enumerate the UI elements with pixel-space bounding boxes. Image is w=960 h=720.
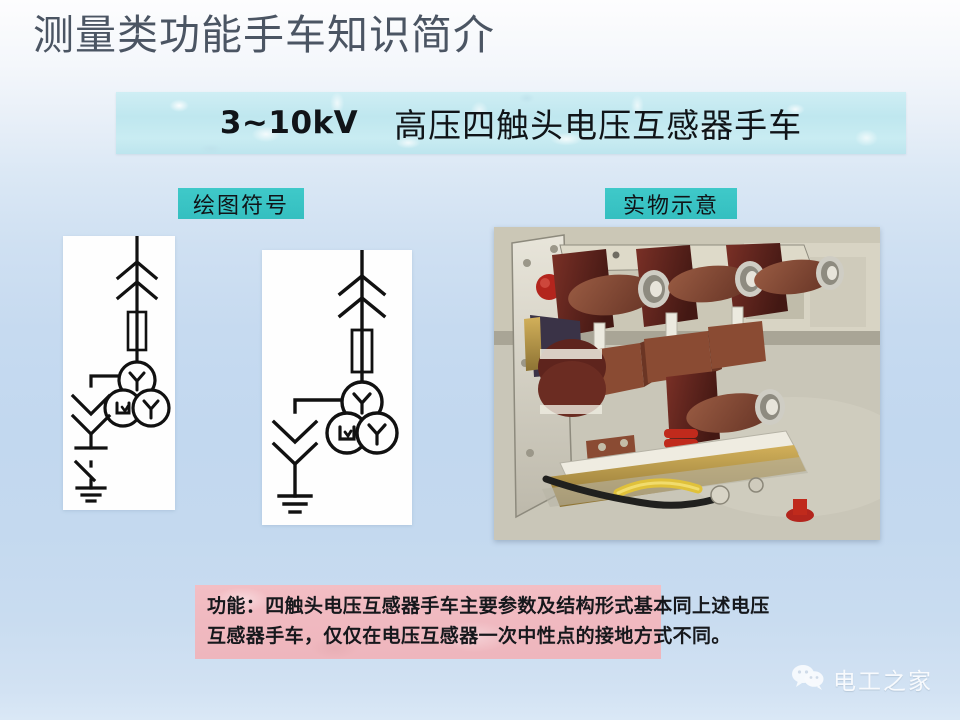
wechat-icon [790, 664, 826, 695]
function-note-line-2: 互感器手车，仅仅在电压互感器一次中性点的接地方式不同。 [207, 621, 651, 651]
caption-physical-illustration: 实物示意 [605, 188, 737, 219]
equipment-photo [494, 227, 880, 540]
circuit-diagram-right-svg [262, 250, 412, 525]
function-note-line-1: 功能：四触头电压互感器手车主要参数及结构形式基本同上述电压 [207, 591, 651, 621]
banner-subject-label: 高压四触头电压互感器手车 [394, 99, 802, 147]
circuit-diagram-right [262, 250, 412, 525]
page-title: 测量类功能手车知识简介 [33, 9, 495, 61]
watermark-label: 电工之家 [833, 662, 933, 696]
circuit-diagram-left-svg [63, 236, 175, 510]
equipment-photo-svg [494, 227, 880, 540]
watermark: 电工之家 [790, 662, 933, 696]
banner-text: 3~10kV 高压四触头电压互感器手车 [116, 92, 906, 154]
circuit-diagram-left [63, 236, 175, 510]
banner-voltage-label: 3~10kV [220, 105, 358, 141]
slide-root: 测量类功能手车知识简介 3~10kV 高压四触头电压互感器手车 绘图符号 实物示… [0, 0, 960, 720]
caption-drawing-symbol: 绘图符号 [178, 188, 304, 219]
function-note-box: 功能：四触头电压互感器手车主要参数及结构形式基本同上述电压 互感器手车，仅仅在电… [195, 585, 661, 659]
title-banner: 3~10kV 高压四触头电压互感器手车 [116, 92, 906, 154]
